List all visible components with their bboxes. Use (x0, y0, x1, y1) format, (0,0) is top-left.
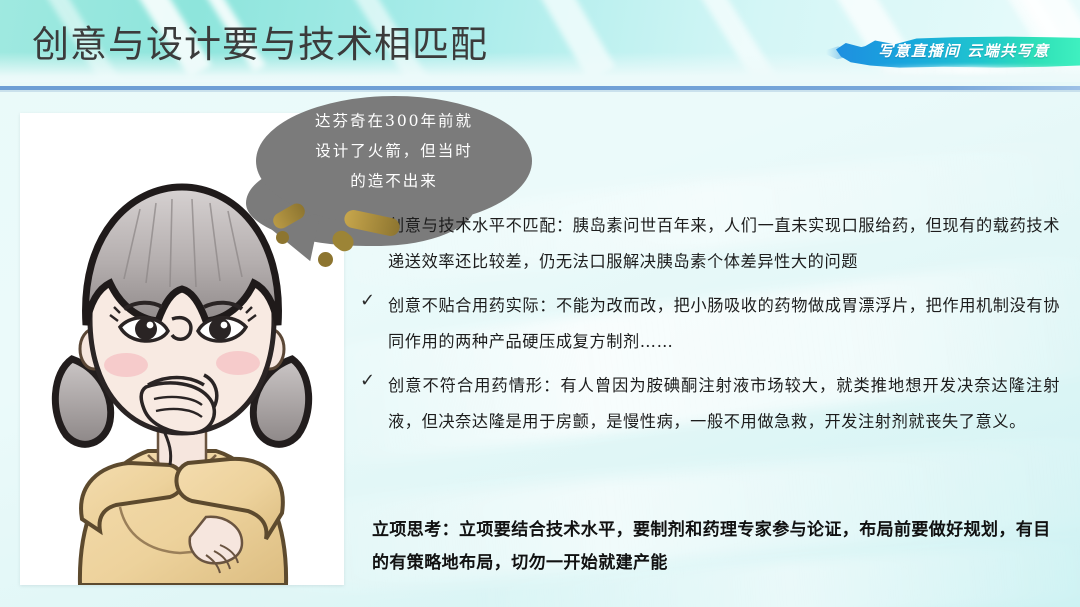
bullet-item: ✓ 创意不贴合用药实际：不能为改而改，把小肠吸收的药物做成胃漂浮片，把作用机制没… (360, 288, 1060, 360)
question-mark-icon (318, 252, 333, 267)
bullet-text: 创意不符合用药情形：有人曾因为胺碘酮注射液市场较大，就类推地想开发决奈达隆注射液… (388, 368, 1060, 440)
page-title: 创意与设计要与技术相匹配 (32, 14, 488, 68)
slide-canvas: 创意与设计要与技术相匹配 写意直播间 云端共写意 (0, 0, 1080, 607)
right-blush (216, 351, 260, 375)
speech-bubble-text: 达芬奇在300年前就 设计了火箭，但当时 的造不出来 (268, 106, 520, 196)
speech-bubble-line: 的造不出来 (268, 166, 520, 196)
header-divider-shadow (0, 90, 1080, 92)
bullet-item: ✓ 创意不符合用药情形：有人曾因为胺碘酮注射液市场较大，就类推地想开发决奈达隆注… (360, 368, 1060, 440)
conclusion-text: 立项思考：立项要结合技术水平，要制剂和药理专家参与论证，布局前要做好规划，有目的… (372, 514, 1064, 580)
brand-logo-text: 写意直播间 云端共写意 (878, 40, 1078, 61)
bullet-text: 创意与技术水平不匹配：胰岛素问世百年来，人们一直未实现口服给药，但现有的载药技术… (388, 208, 1060, 280)
bullet-text: 创意不贴合用药实际：不能为改而改，把小肠吸收的药物做成胃漂浮片，把作用机制没有协… (388, 288, 1060, 360)
speech-bubble-line: 达芬奇在300年前就 (268, 106, 520, 136)
check-icon: ✓ (360, 290, 382, 311)
bullet-item: ✓ 创意与技术水平不匹配：胰岛素问世百年来，人们一直未实现口服给药，但现有的载药… (360, 208, 1060, 280)
logo-underglow (866, 66, 1076, 74)
question-mark-icon (276, 231, 289, 244)
left-blush (104, 353, 148, 377)
speech-bubble-line: 设计了火箭，但当时 (268, 136, 520, 166)
brand-logo: 写意直播间 云端共写意 (836, 36, 1080, 70)
check-icon: ✓ (360, 370, 382, 391)
bullet-list: ✓ 创意与技术水平不匹配：胰岛素问世百年来，人们一直未实现口服给药，但现有的载药… (360, 208, 1060, 448)
